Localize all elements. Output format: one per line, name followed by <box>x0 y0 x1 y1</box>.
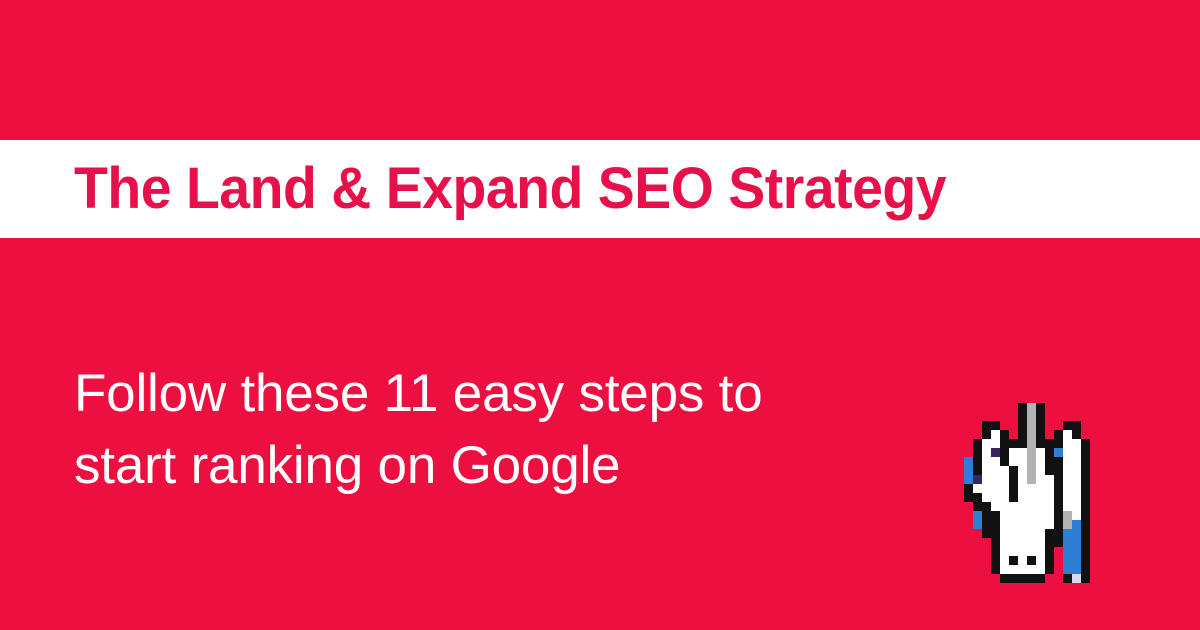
subtitle: Follow these 11 easy steps to start rank… <box>74 358 714 502</box>
seo-banner-card: The Land & Expand SEO Strategy Follow th… <box>0 0 1200 630</box>
unicorn-mascot-svg <box>963 403 1091 583</box>
subtitle-line-2: start ranking on Google <box>74 430 714 502</box>
page-title: The Land & Expand SEO Strategy <box>74 160 946 218</box>
unicorn-mascot-icon <box>963 403 1091 583</box>
subtitle-line-1: Follow these 11 easy steps to <box>74 358 714 430</box>
title-band: The Land & Expand SEO Strategy <box>0 140 1200 238</box>
